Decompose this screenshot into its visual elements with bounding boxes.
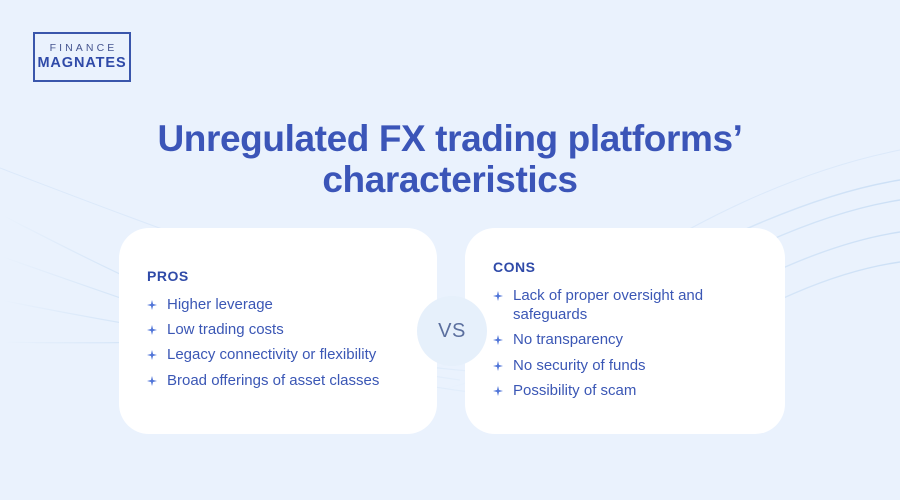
list-item-label: Low trading costs	[167, 321, 284, 338]
sparkle-icon	[493, 335, 503, 345]
list-item-label: Legacy connectivity or flexibility	[167, 346, 376, 363]
list-item: Low trading costs	[147, 320, 419, 339]
pros-heading: PROS	[147, 268, 419, 284]
pros-card: PROS Higher leverage Low trading costs	[119, 228, 437, 434]
cons-list: Lack of proper oversight and safeguards …	[493, 286, 767, 400]
list-item: Broad offerings of asset classes	[147, 371, 419, 390]
cons-heading: CONS	[493, 259, 767, 275]
sparkle-icon	[493, 361, 503, 371]
versus-label: VS	[438, 320, 466, 343]
versus-badge: VS	[417, 296, 487, 366]
pros-list: Higher leverage Low trading costs Legacy…	[147, 295, 419, 390]
infographic-canvas: FINANCE MAGNATES Unregulated FX trading …	[0, 0, 900, 500]
logo-text-magnates: MAGNATES	[37, 55, 126, 72]
sparkle-icon	[147, 325, 157, 335]
list-item-label: No security of funds	[513, 357, 646, 374]
list-item: Possibility of scam	[493, 381, 767, 400]
list-item: Legacy connectivity or flexibility	[147, 345, 419, 364]
list-item: Lack of proper oversight and safeguards	[493, 286, 767, 324]
list-item-label: Broad offerings of asset classes	[167, 372, 379, 389]
sparkle-icon	[493, 291, 503, 301]
sparkle-icon	[147, 350, 157, 360]
list-item-label: Possibility of scam	[513, 382, 636, 399]
sparkle-icon	[493, 386, 503, 396]
cons-card-content: CONS Lack of proper oversight and safegu…	[493, 259, 767, 400]
finance-magnates-logo[interactable]: FINANCE MAGNATES	[33, 32, 131, 82]
list-item: No security of funds	[493, 356, 767, 375]
sparkle-icon	[147, 376, 157, 386]
list-item: No transparency	[493, 330, 767, 349]
list-item-label: Higher leverage	[167, 296, 273, 313]
list-item-label: No transparency	[513, 331, 623, 348]
pros-card-content: PROS Higher leverage Low trading costs	[147, 268, 419, 390]
list-item: Higher leverage	[147, 295, 419, 314]
list-item-label: Lack of proper oversight and safeguards	[513, 287, 703, 323]
page-title: Unregulated FX trading platforms’ charac…	[0, 118, 900, 201]
sparkle-icon	[147, 300, 157, 310]
logo-text-finance: FINANCE	[47, 42, 118, 54]
cons-card: CONS Lack of proper oversight and safegu…	[465, 228, 785, 434]
